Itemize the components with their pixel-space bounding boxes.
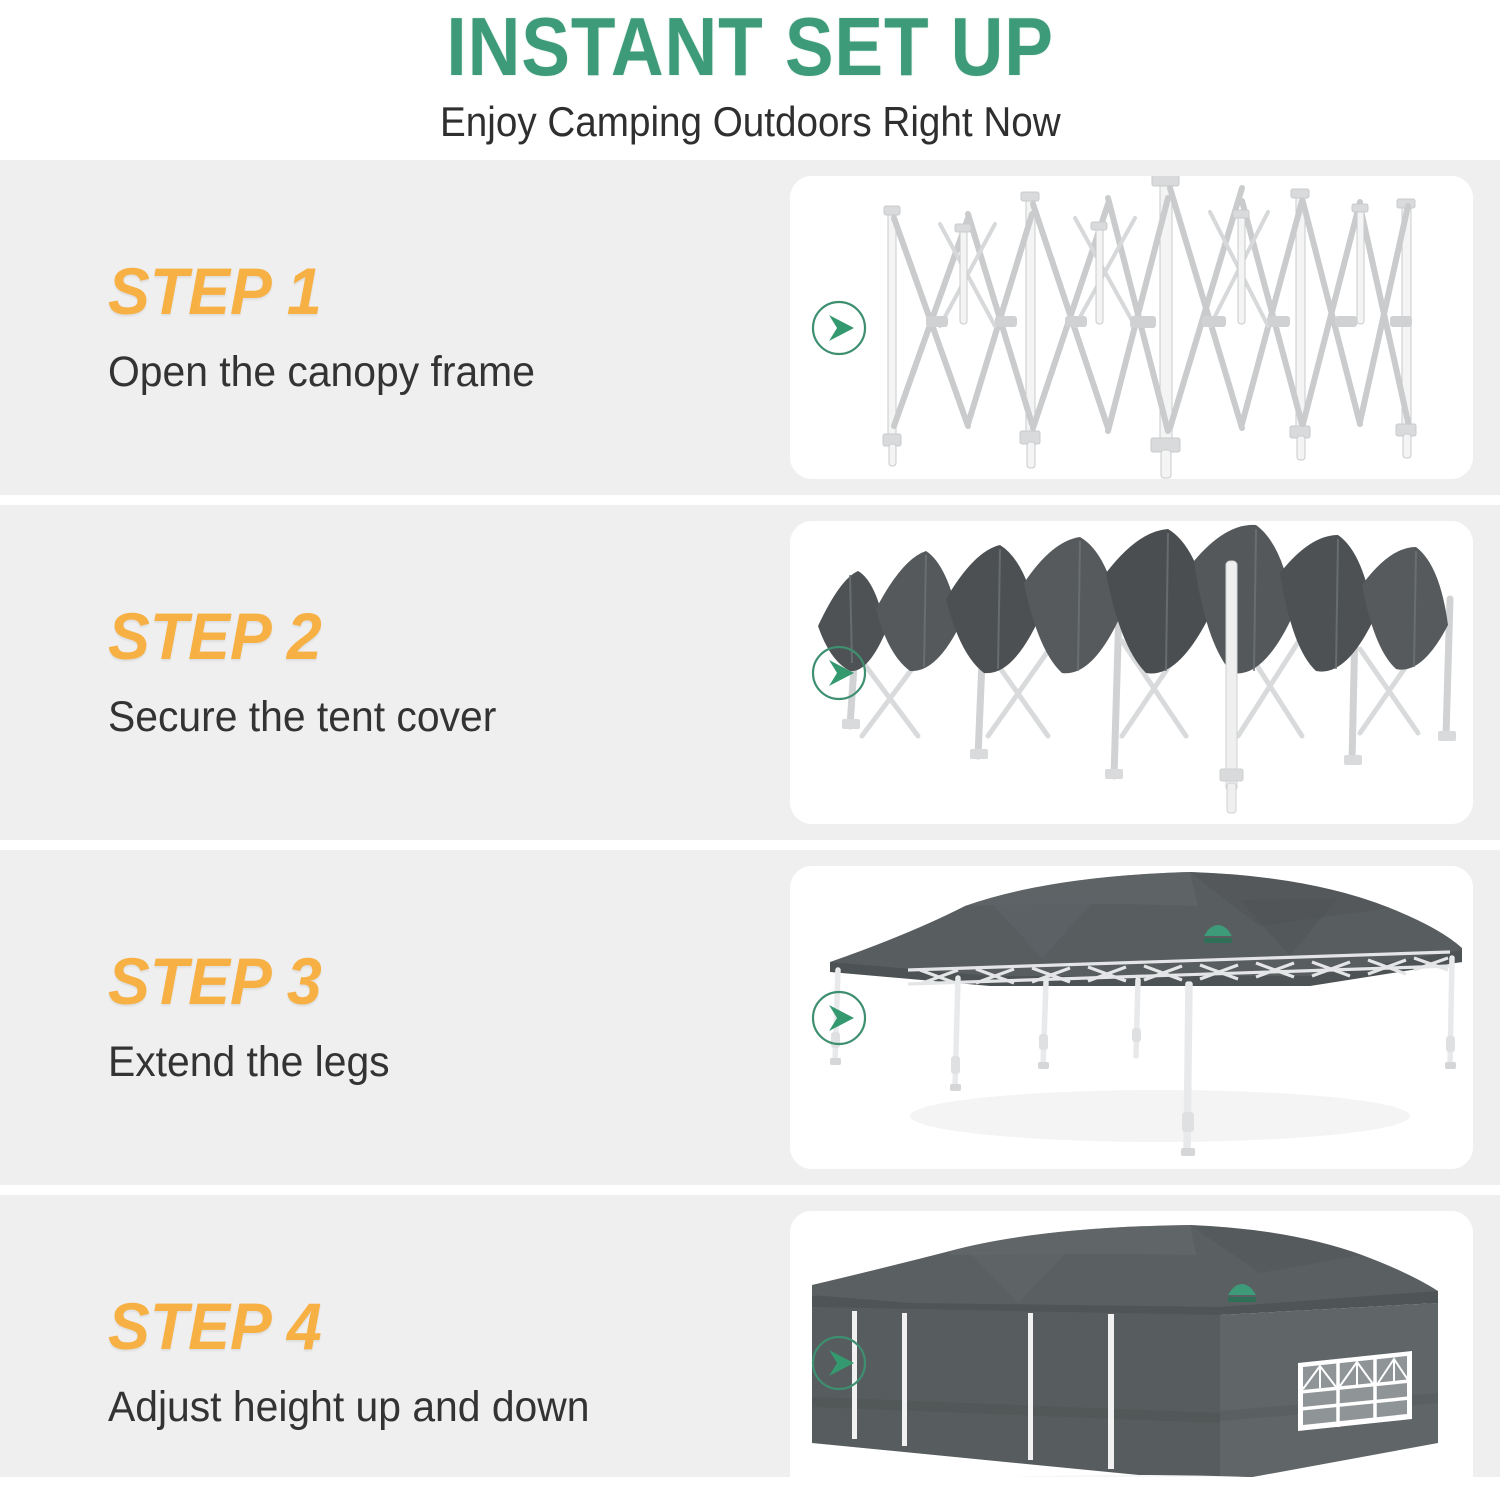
step-text-block-2: STEP 2 Secure the tent cover (108, 601, 728, 745)
step-image-panel-4 (790, 1211, 1473, 1487)
arrow-right-circle-icon (810, 989, 868, 1047)
step-label-3: STEP 3 (108, 946, 697, 1016)
canopy-erected-illustration (790, 866, 1473, 1169)
step-row-3: STEP 3 Extend the legs (0, 850, 1500, 1185)
canopy-frame-expanded-illustration (790, 176, 1473, 479)
step-label-2: STEP 2 (108, 601, 697, 671)
step-description-2: Secure the tent cover (108, 689, 697, 745)
step-image-panel-1 (790, 176, 1473, 479)
step-image-panel-2 (790, 521, 1473, 824)
page-title: INSTANT SET UP (446, 2, 1053, 92)
instant-setup-infographic: INSTANT SET UP Enjoy Camping Outdoors Ri… (0, 0, 1500, 1487)
page-subtitle: Enjoy Camping Outdoors Right Now (440, 96, 1061, 148)
step-label-4: STEP 4 (108, 1291, 697, 1361)
step-text-block-4: STEP 4 Adjust height up and down (108, 1291, 728, 1435)
step-row-4: STEP 4 Adjust height up and down (0, 1195, 1500, 1487)
arrow-right-circle-icon (810, 644, 868, 702)
step-description-4: Adjust height up and down (108, 1379, 697, 1435)
bottom-strip (0, 1477, 1500, 1487)
arrow-right-circle-icon (810, 299, 868, 357)
canopy-with-sidewalls-illustration (790, 1211, 1473, 1487)
page-header: INSTANT SET UP Enjoy Camping Outdoors Ri… (0, 0, 1500, 160)
step-label-1: STEP 1 (108, 256, 697, 326)
step-row-1: STEP 1 Open the canopy frame (0, 160, 1500, 495)
step-image-panel-3 (790, 866, 1473, 1169)
step-list: STEP 1 Open the canopy frame (0, 160, 1500, 1487)
step-text-block-3: STEP 3 Extend the legs (108, 946, 728, 1090)
step-description-1: Open the canopy frame (108, 344, 697, 400)
step-row-2: STEP 2 Secure the tent cover (0, 505, 1500, 840)
arrow-right-circle-icon (810, 1334, 868, 1392)
step-text-block-1: STEP 1 Open the canopy frame (108, 256, 728, 400)
window-panel-icon (1298, 1351, 1412, 1431)
canopy-cover-draped-illustration (790, 521, 1473, 824)
step-description-3: Extend the legs (108, 1034, 697, 1090)
